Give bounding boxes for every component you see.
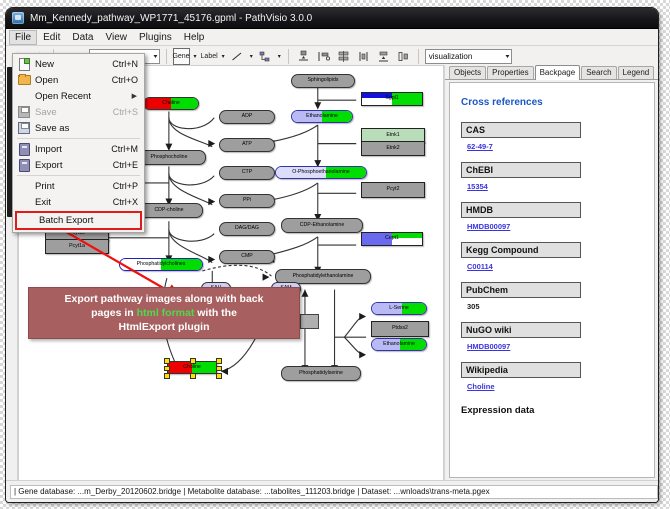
chevron-down-icon: ▾ <box>153 53 157 60</box>
node-ethanolamine-2[interactable]: Ethanolamine <box>371 338 427 351</box>
gene-label: Cept1 <box>385 236 399 241</box>
xref-link[interactable]: HMDB00097 <box>467 342 510 351</box>
xref-value[interactable]: HMDB00097 <box>461 338 654 358</box>
gene-pcyt1a[interactable]: Pcyt1a <box>45 239 109 254</box>
gene-label: Etnk2 <box>386 146 399 151</box>
node-label: Ethanolamine <box>306 114 338 119</box>
menu-help[interactable]: Help <box>178 30 211 45</box>
node-ethanolamine[interactable]: Ethanolamine <box>291 110 353 123</box>
selection-handle[interactable] <box>164 358 170 364</box>
node-label: CDP-Ethanolamine <box>300 223 344 228</box>
selection-handle[interactable] <box>216 358 222 364</box>
menu-item-label: Open Recent <box>35 91 132 102</box>
menu-item-label: New <box>35 59 112 70</box>
menu-item-accel: Ctrl+P <box>113 181 144 191</box>
tab-properties[interactable]: Properties <box>487 66 533 79</box>
anchor-tool-dropdown-icon[interactable]: ▾ <box>277 53 282 60</box>
menu-bar: File Edit Data View Plugins Help <box>6 29 658 46</box>
reaction-node[interactable] <box>300 314 319 329</box>
import-icon <box>13 143 35 156</box>
menu-item-batch-export[interactable]: Batch Export <box>15 211 142 230</box>
toolbar-separator-4 <box>418 49 419 64</box>
menu-item-new[interactable]: New Ctrl+N <box>13 56 144 72</box>
menu-edit[interactable]: Edit <box>37 30 66 45</box>
expression-data-title: Expression data <box>461 405 654 416</box>
common-width-icon[interactable] <box>355 48 372 65</box>
menu-item-label: Save <box>35 107 113 118</box>
xref-link[interactable]: C00114 <box>467 262 493 271</box>
menu-item-export[interactable]: Export Ctrl+E <box>13 157 144 173</box>
menu-item-open-recent[interactable]: Open Recent ▶ <box>13 88 144 104</box>
xref-wikipedia: Wikipedia Choline <box>461 362 654 398</box>
gene-label: Pcyt1a <box>69 244 85 249</box>
node-label: L-Serine <box>389 306 409 311</box>
xref-link[interactable]: 15354 <box>467 182 488 191</box>
open-folder-icon <box>13 75 35 85</box>
window-title: Mm_Kennedy_pathway_WP1771_45176.gpml - P… <box>30 13 312 24</box>
visualization-value: visualization <box>429 52 473 61</box>
status-text: | Gene database: ...m_Derby_20120602.bri… <box>10 485 658 499</box>
gene-pcyt2[interactable]: Pcyt2 <box>361 182 425 198</box>
xref-value[interactable]: C00114 <box>461 258 654 278</box>
node-label: ATP <box>242 142 252 147</box>
selection-handle[interactable] <box>164 366 170 372</box>
xref-link[interactable]: 62-49-7 <box>467 142 493 151</box>
menu-item-print[interactable]: Print Ctrl+P <box>13 178 144 194</box>
chevron-down-icon-2: ▾ <box>505 53 509 60</box>
node-o-phosphoethanolamine[interactable]: O-Phosphoethanolamine <box>275 166 367 179</box>
node-atp[interactable]: ATP <box>219 138 275 152</box>
xref-value: 305 <box>461 298 654 318</box>
tab-legend[interactable]: Legend <box>618 66 655 79</box>
node-phosphatidylcholines[interactable]: Phosphatidylcholines <box>119 258 203 271</box>
menu-item-save-as[interactable]: Save as <box>13 120 144 136</box>
menu-item-accel: Ctrl+X <box>113 197 144 207</box>
node-label: PPi <box>243 198 251 203</box>
align-top-icon[interactable] <box>295 48 312 65</box>
annotation-highlight: html format <box>137 307 195 319</box>
menu-item-label: Print <box>35 181 113 192</box>
export-icon <box>13 159 35 172</box>
menu-view[interactable]: View <box>99 30 133 45</box>
annotation-line2a: pages in <box>91 307 137 319</box>
gene-shape-label: Gene <box>172 53 189 60</box>
label-tool-dropdown-icon[interactable]: ▾ <box>221 53 226 60</box>
node-label: Phosphatidylcholines <box>137 262 186 267</box>
menu-item-label: Open <box>35 75 112 86</box>
gene-cept1[interactable]: Cept1 <box>361 232 423 246</box>
status-bar: | Gene database: ...m_Derby_20120602.bri… <box>6 480 658 502</box>
menu-separator-2 <box>17 175 140 176</box>
backpage-content: Cross references CAS 62-49-7 ChEBI 15354… <box>449 82 655 478</box>
xref-cas: CAS 62-49-7 <box>461 122 654 158</box>
title-bar: Mm_Kennedy_pathway_WP1771_45176.gpml - P… <box>6 8 658 29</box>
annotation-line2b: with the <box>194 307 237 319</box>
selection-handle[interactable] <box>164 373 170 379</box>
node-label: Sphingolipids <box>308 78 339 83</box>
node-l-serine[interactable]: L-Serine <box>371 302 427 315</box>
xref-source-label: Wikipedia <box>461 362 581 378</box>
annotation-line3: HtmlExport plugin <box>119 321 210 333</box>
menu-separator <box>17 138 140 139</box>
xref-link[interactable]: Choline <box>467 382 495 391</box>
menu-item-save: Save Ctrl+S <box>13 104 144 120</box>
node-choline[interactable]: Choline <box>143 97 199 110</box>
node-adp[interactable]: ADP <box>219 110 275 124</box>
visualization-combo[interactable]: visualization ▾ <box>425 49 512 64</box>
menu-plugins[interactable]: Plugins <box>133 30 178 45</box>
cross-references-title: Cross references <box>461 97 654 108</box>
line-tool-icon[interactable] <box>229 48 246 65</box>
label-tool[interactable]: Label <box>201 53 218 60</box>
xref-value[interactable]: 15354 <box>461 178 654 198</box>
selection-handle[interactable] <box>216 366 222 372</box>
xref-chebi: ChEBI 15354 <box>461 162 654 198</box>
selection-handle[interactable] <box>216 373 222 379</box>
node-label: CMP <box>241 254 253 259</box>
xref-source-label: ChEBI <box>461 162 581 178</box>
menu-item-label: Batch Export <box>39 215 140 226</box>
gene-shape-tool[interactable]: Gene <box>173 48 190 65</box>
tab-search[interactable]: Search <box>581 66 616 79</box>
xref-value[interactable]: 62-49-7 <box>461 138 654 158</box>
menu-item-import[interactable]: Import Ctrl+M <box>13 141 144 157</box>
anchor-tool-icon[interactable] <box>257 48 274 65</box>
xref-nugo-wiki: NuGO wiki HMDB00097 <box>461 322 654 358</box>
pathvisio-icon <box>12 12 24 24</box>
gene-label: Etnk1 <box>386 133 399 138</box>
selection-handle[interactable] <box>190 358 196 364</box>
menu-item-label: Save as <box>35 123 138 134</box>
gene-label: Ptdss2 <box>392 326 408 331</box>
node-label: CDP-choline <box>154 208 183 213</box>
file-menu-popup[interactable]: New Ctrl+N Open Ctrl+O Open Recent ▶ Sav… <box>12 53 145 233</box>
menu-item-accel: Ctrl+O <box>112 75 144 85</box>
node-label: Phosphatidylserine <box>299 371 343 376</box>
stack-icon[interactable] <box>375 48 392 65</box>
save-disk-icon <box>13 106 35 118</box>
xref-pubchem: PubChem 305 <box>461 282 654 318</box>
gene-ptdss2[interactable]: Ptdss2 <box>371 321 429 337</box>
line-tool-dropdown-icon[interactable]: ▾ <box>249 53 254 60</box>
node-cmp[interactable]: CMP <box>219 250 275 264</box>
node-label: Choline <box>162 101 180 106</box>
xref-hmdb: HMDB HMDB00097 <box>461 202 654 238</box>
menu-item-label: Export <box>35 160 113 171</box>
node-label: DAG/DAG <box>235 226 259 231</box>
xref-source-label: PubChem <box>461 282 581 298</box>
selection-handle[interactable] <box>190 373 196 379</box>
xref-link[interactable]: HMDB00097 <box>467 222 510 231</box>
node-label: Phosphatidylethanolamine <box>293 274 354 279</box>
node-dag[interactable]: DAG/DAG <box>219 222 275 236</box>
xref-source-label: CAS <box>461 122 581 138</box>
menu-item-label: Exit <box>35 197 113 208</box>
gene-sgpl1[interactable]: Sgpl1 <box>361 92 423 106</box>
gene-shape-dropdown-icon[interactable]: ▾ <box>193 53 198 60</box>
tab-objects[interactable]: Objects <box>449 66 486 79</box>
menu-file[interactable]: File <box>9 30 37 45</box>
gene-label: Sgpl1 <box>385 96 398 101</box>
new-file-icon <box>13 58 35 71</box>
menu-item-accel: Ctrl+E <box>113 160 144 170</box>
annotation-line1: Export pathway images along with back <box>65 293 264 305</box>
xref-source-label: NuGO wiki <box>461 322 581 338</box>
node-ppi[interactable]: PPi <box>219 194 275 208</box>
application-window: Mm_Kennedy_pathway_WP1771_45176.gpml - P… <box>6 8 658 502</box>
node-label: CTP <box>242 170 252 175</box>
menu-item-accel: Ctrl+M <box>111 144 144 154</box>
xref-value[interactable]: HMDB00097 <box>461 218 654 238</box>
menu-item-label: Import <box>35 144 111 155</box>
xref-value[interactable]: Choline <box>461 378 654 398</box>
side-panel-tabs: Objects Properties Backpage Search Legen… <box>445 65 658 80</box>
node-choline-selected[interactable]: Choline <box>167 361 217 374</box>
xref-source-label: Kegg Compound <box>461 242 581 258</box>
menu-item-exit[interactable]: Exit Ctrl+X <box>13 194 144 210</box>
distribute-horizontal-icon[interactable] <box>335 48 352 65</box>
node-cdp-ethanolamine[interactable]: CDP-Ethanolamine <box>281 218 363 233</box>
save-as-disk-icon <box>13 122 35 134</box>
menu-data[interactable]: Data <box>66 30 99 45</box>
toolbar-separator-3 <box>288 49 289 64</box>
node-label: ADP <box>242 114 253 119</box>
node-label: Ethanolamine <box>383 342 415 347</box>
tab-backpage[interactable]: Backpage <box>535 65 581 80</box>
menu-item-accel: Ctrl+S <box>113 107 144 117</box>
node-label: O-Phosphoethanolamine <box>292 170 349 175</box>
menu-item-accel: Ctrl+N <box>112 59 144 69</box>
node-ctp[interactable]: CTP <box>219 166 275 180</box>
gene-etnk2[interactable]: Etnk2 <box>361 141 425 156</box>
node-label: Choline <box>183 365 201 370</box>
xref-kegg-compound: Kegg Compound C00114 <box>461 242 654 278</box>
node-sphingolipids[interactable]: Sphingolipids <box>291 74 355 88</box>
toolbar-separator-2 <box>166 49 167 64</box>
side-panel: Objects Properties Backpage Search Legen… <box>444 65 658 481</box>
node-cdp-choline[interactable]: CDP-choline <box>135 203 203 218</box>
menu-item-open[interactable]: Open Ctrl+O <box>13 72 144 88</box>
gene-label: Pcyt2 <box>387 187 400 192</box>
node-label: Phosphocholine <box>151 155 188 160</box>
group-icon[interactable] <box>395 48 412 65</box>
xref-source-label: HMDB <box>461 202 581 218</box>
annotation-banner: Export pathway images along with back pa… <box>28 287 300 339</box>
node-phosphatidylserine[interactable]: Phosphatidylserine <box>281 366 361 381</box>
submenu-arrow-icon: ▶ <box>132 92 144 100</box>
align-left-icon[interactable] <box>315 48 332 65</box>
